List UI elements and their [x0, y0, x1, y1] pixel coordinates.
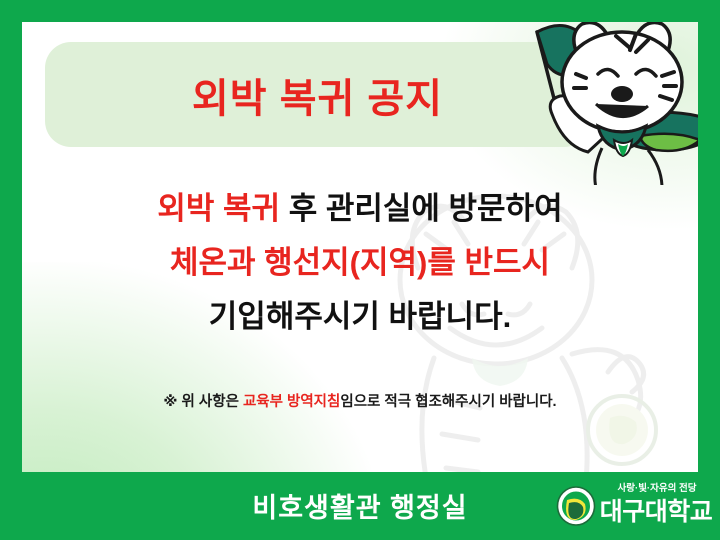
footnote: ※ 위 사항은 교육부 방역지침임으로 적극 협조해주시기 바랍니다. [22, 390, 698, 411]
body-line-2: 체온과 행선지(지역)를 반드시 [22, 236, 698, 290]
footnote-suffix: 임으로 적극 협조해주시기 바랍니다. [340, 394, 556, 410]
footer-bar: 비호생활관 행정실 사랑·빛·자유의 전당 대구대학교 [0, 472, 720, 540]
body-line-1-highlight: 외박 복귀 [157, 191, 280, 226]
university-logo: 사랑·빛·자유의 전당 대구대학교 [552, 476, 712, 532]
footnote-prefix: ※ 위 사항은 [163, 394, 243, 410]
body-copy: 외박 복귀 후 관리실에 방문하여 체온과 행선지(지역)를 반드시 기입해주시… [22, 182, 698, 344]
body-line-2-highlight: 체온과 행선지(지역)를 반드시 [170, 245, 550, 280]
university-seal-icon [556, 486, 596, 526]
body-line-1-text: 후 관리실에 방문하여 [280, 191, 563, 226]
university-name: 대구대학교 [598, 492, 714, 528]
body-line-3: 기입해주시기 바랍니다. [22, 290, 698, 344]
footnote-highlight: 교육부 방역지침 [243, 394, 340, 410]
body-line-1: 외박 복귀 후 관리실에 방문하여 [22, 182, 698, 236]
page-title: 외박 복귀 공지 [45, 42, 590, 147]
body-line-3-text: 기입해주시기 바랍니다. [209, 299, 511, 334]
poster-canvas: 외박 복귀 공지 [22, 22, 698, 472]
poster-root: 외박 복귀 공지 [0, 0, 720, 540]
